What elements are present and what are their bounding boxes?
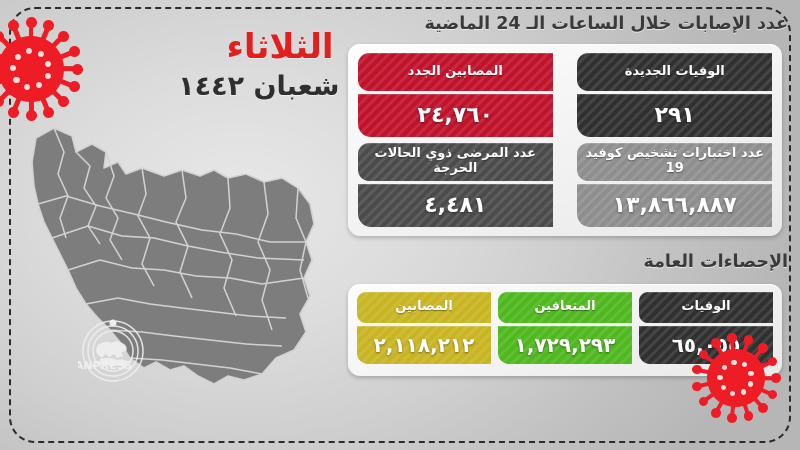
stat-total-recovered[interactable]: المتعافين ١,٧٢٩,٢٩٣ — [498, 292, 632, 364]
stat-total-infected-label: المصابين — [357, 292, 491, 323]
virus-speckle — [748, 371, 753, 376]
virus-spike-knob — [43, 107, 54, 118]
stat-total-recovered-label: المتعافين — [498, 292, 632, 323]
virus-spike-knob — [711, 338, 721, 348]
coronavirus-icon-bottom-right — [688, 330, 784, 426]
virus-speckle — [722, 365, 727, 370]
virus-speckle — [10, 65, 16, 71]
stat-total-infected-value: ٢,١١٨,٢١٢ — [357, 326, 491, 364]
daily-column-right: المصابين الجدد ٢٤,٧٦٠ عدد المرضى ذوي الح… — [358, 53, 553, 227]
virus-spike-knob — [758, 403, 768, 413]
stat-tests-value: ١٣,٨٦٦,٨٨٧ — [577, 184, 772, 227]
virus-spike-knob — [692, 365, 702, 375]
general-cell-recovered: المتعافين ١,٧٢٩,٢٩٣ — [498, 292, 632, 368]
stat-tests-label: عدد اختبارات تشخيص كوفيد 19 — [577, 143, 772, 181]
virus-spike-knob — [758, 343, 768, 353]
stat-critical-cases-value: ٤,٤٨١ — [358, 184, 553, 227]
daily-panel-title: عدد الإصابات خلال الساعات الـ 24 الماضية — [368, 14, 788, 34]
stat-tests[interactable]: عدد اختبارات تشخيص كوفيد 19 ١٣,٨٦٦,٨٨٧ — [577, 143, 772, 227]
virus-spike-knob — [43, 20, 54, 31]
daily-stats-card: المصابين الجدد ٢٤,٧٦٠ عدد المرضى ذوي الح… — [348, 44, 782, 236]
virus-speckle — [717, 375, 722, 380]
stat-new-deaths-label: الوفيات الجديدة — [577, 53, 772, 91]
virus-spike-knob — [26, 17, 37, 28]
daily-column-left: الوفيات الجديدة ٢٩١ عدد اختبارات تشخيص ك… — [577, 53, 772, 227]
infographic-canvas: IRANPRESS الثلاثاء ٣٠ شعبان ١٤٤٢ عدد الإ… — [0, 0, 800, 450]
virus-spike-knob — [72, 64, 83, 75]
coronavirus-icon-top-left — [0, 14, 86, 124]
stat-critical-cases[interactable]: عدد المرضى ذوي الحالات الحرجة ٤,٤٨١ — [358, 143, 553, 227]
iranpress-logo-text: IRANPRESS — [78, 359, 132, 372]
stat-total-infected[interactable]: المصابين ٢,١١٨,٢١٢ — [357, 292, 491, 364]
virus-spike-knob — [744, 411, 754, 421]
general-cell-infected: المصابين ٢,١١٨,٢١٢ — [357, 292, 491, 368]
virus-spike-knob — [771, 373, 781, 383]
stat-new-cases[interactable]: المصابين الجدد ٢٤,٧٦٠ — [358, 53, 553, 137]
virus-spike-knob — [0, 96, 4, 107]
virus-spike-knob — [692, 382, 702, 392]
stat-new-cases-label: المصابين الجدد — [358, 53, 553, 91]
virus-speckle — [13, 77, 19, 83]
virus-spike-knob — [69, 46, 80, 57]
virus-speckle — [38, 51, 44, 57]
virus-speckle — [731, 360, 736, 365]
virus-spike-knob — [711, 408, 721, 418]
virus-speckle — [15, 54, 21, 60]
virus-spike-knob — [58, 96, 69, 107]
virus-spike-knob — [8, 107, 19, 118]
stat-new-cases-value: ٢٤,٧٦٠ — [358, 94, 553, 137]
stat-total-recovered-value: ١,٧٢٩,٢٩٣ — [498, 326, 632, 364]
general-panel-title: الإحصاءات العامة — [368, 252, 788, 272]
stat-new-deaths-value: ٢٩١ — [577, 94, 772, 137]
virus-spike-knob — [744, 335, 754, 345]
stat-new-deaths[interactable]: الوفيات الجديدة ٢٩١ — [577, 53, 772, 137]
virus-spike-knob — [768, 357, 778, 367]
virus-speckle — [26, 48, 32, 54]
virus-spike-knob — [58, 31, 69, 42]
virus-speckle — [748, 381, 753, 386]
virus-speckle — [24, 84, 30, 90]
virus-speckle — [741, 389, 746, 394]
stat-total-deaths-label: الوفيات — [639, 292, 773, 323]
iranpress-logo: IRANPRESS — [78, 316, 182, 388]
virus-spike-knob — [699, 397, 709, 407]
virus-spike-knob — [727, 333, 737, 343]
virus-spike-knob — [768, 390, 778, 400]
virus-speckle — [45, 73, 51, 79]
stat-critical-cases-label: عدد المرضى ذوي الحالات الحرجة — [358, 143, 553, 181]
virus-spike-knob — [727, 413, 737, 423]
virus-spike-knob — [69, 81, 80, 92]
